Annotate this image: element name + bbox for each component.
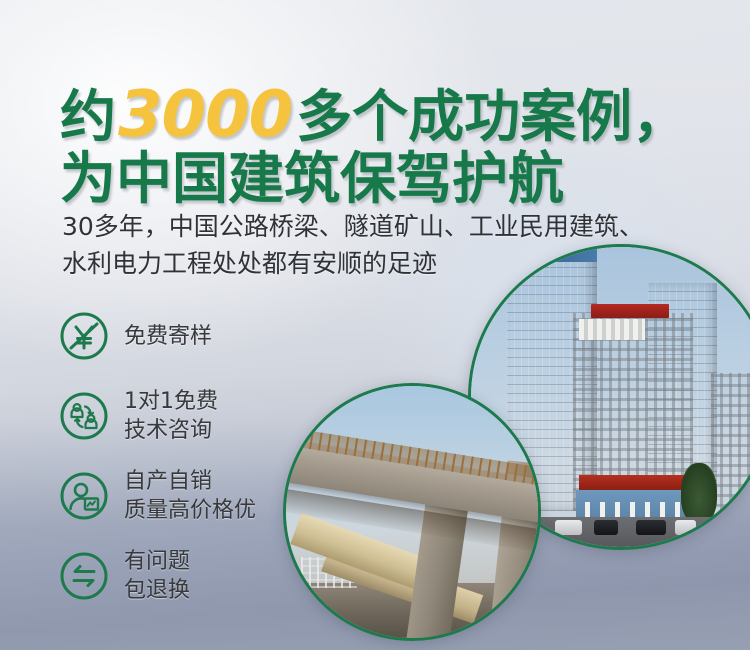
feature-label-line-1: 1对1免费 [124, 389, 218, 414]
feature-label-line-1: 自产自销 [124, 469, 212, 494]
feature-label-line-2: 包退换 [124, 576, 190, 605]
feature-label: 自产自销 质量高价格优 [124, 467, 256, 525]
feature-label-line-2: 质量高价格优 [124, 496, 256, 525]
facade-sign [579, 475, 693, 490]
feature-item[interactable]: 自产自销 质量高价格优 [58, 456, 308, 536]
street-tree [681, 463, 717, 523]
headline-suffix: 多个成功案例， [296, 85, 688, 150]
free-yuan-icon [58, 310, 110, 362]
feature-label: 免费寄样 [124, 322, 212, 351]
bridge-scene [286, 386, 538, 638]
feature-item[interactable]: 免费寄样 [58, 296, 308, 376]
feature-label: 1对1免费 技术咨询 [124, 387, 218, 445]
feature-label: 有问题 包退换 [124, 547, 190, 605]
car [675, 520, 696, 535]
feature-label-line-1: 有问题 [124, 549, 190, 574]
feature-list: 免费寄样 1对1免费 技术咨询 [58, 296, 308, 616]
subtitle-line-1: 30多年，中国公路桥梁、隧道矿山、工业民用建筑、 [62, 208, 742, 245]
car [636, 520, 666, 535]
person-chart-icon [58, 470, 110, 522]
feature-label-line-1: 免费寄样 [124, 324, 212, 349]
bridge-photo [283, 383, 541, 641]
headline-prefix: 约 [60, 85, 116, 150]
left-tower-crown [507, 247, 597, 262]
feature-label-line-2: 技术咨询 [124, 416, 218, 445]
two-people-exchange-icon [58, 390, 110, 442]
exchange-arrows-icon [58, 550, 110, 602]
promo-banner: 约3000多个成功案例， 为中国建筑保驾护航 30多年，中国公路桥梁、隧道矿山、… [0, 0, 750, 650]
headline-line-2: 为中国建筑保驾护航 [60, 149, 720, 211]
headline-block: 约3000多个成功案例， 为中国建筑保驾护航 [60, 84, 720, 211]
headline-line-1: 约3000多个成功案例， [60, 84, 720, 149]
feature-item[interactable]: 1对1免费 技术咨询 [58, 376, 308, 456]
car [594, 520, 618, 535]
car [555, 520, 582, 535]
rooftop-sign [591, 304, 669, 318]
headline-number: 3000 [116, 78, 296, 152]
podium-crown [579, 319, 645, 340]
feature-item[interactable]: 有问题 包退换 [58, 536, 308, 616]
